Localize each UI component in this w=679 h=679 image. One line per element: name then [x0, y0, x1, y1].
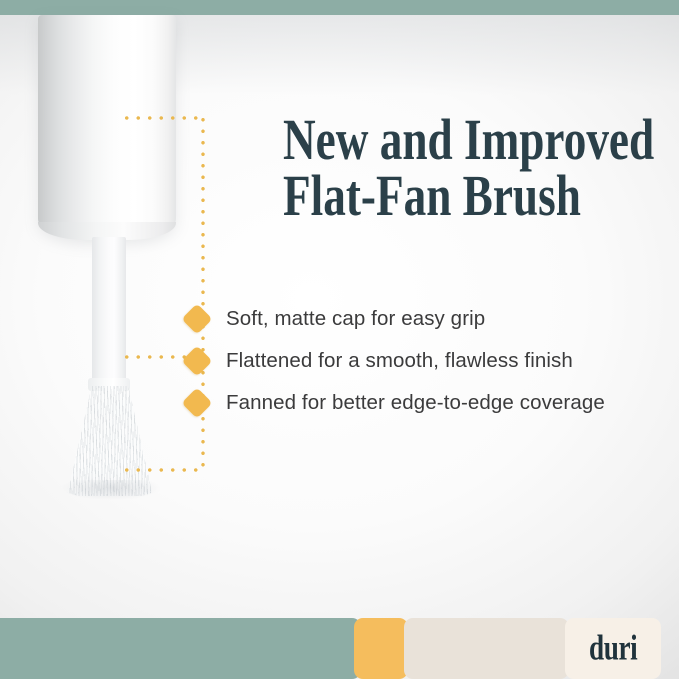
dotted-connector-cap: [121, 116, 205, 120]
bottom-brand-bar: duri: [0, 618, 679, 679]
feature-label: Soft, matte cap for easy grip: [226, 307, 485, 331]
diamond-bullet-icon: [181, 303, 212, 334]
brush-cap: [38, 15, 176, 239]
product-infographic: New and Improved Flat-Fan Brush Soft, ma…: [0, 0, 679, 679]
product-image-brush: [0, 0, 260, 510]
brand-logo-tile: duri: [565, 618, 661, 679]
dotted-connector-bristles: [121, 468, 205, 472]
brush-shadow: [62, 480, 160, 500]
feature-list: Soft, matte cap for easy grip Flattened …: [186, 298, 666, 424]
brand-bar-segment-teal: [0, 618, 361, 679]
headline-line-2: Flat-Fan Brush: [283, 168, 579, 224]
brand-bar-segment-cream: [404, 618, 569, 679]
list-item: Soft, matte cap for easy grip: [186, 298, 666, 340]
diamond-bullet-icon: [181, 345, 212, 376]
feature-label: Fanned for better edge-to-edge coverage: [226, 391, 605, 415]
diamond-bullet-icon: [181, 387, 212, 418]
headline: New and Improved Flat-Fan Brush: [283, 112, 579, 225]
brand-logo-text: duri: [589, 630, 637, 666]
list-item: Fanned for better edge-to-edge coverage: [186, 382, 666, 424]
brush-stem: [92, 237, 126, 386]
feature-label: Flattened for a smooth, flawless finish: [226, 349, 573, 373]
brand-bar-segment-amber: [354, 618, 408, 679]
headline-line-1: New and Improved: [283, 107, 654, 172]
list-item: Flattened for a smooth, flawless finish: [186, 340, 666, 382]
